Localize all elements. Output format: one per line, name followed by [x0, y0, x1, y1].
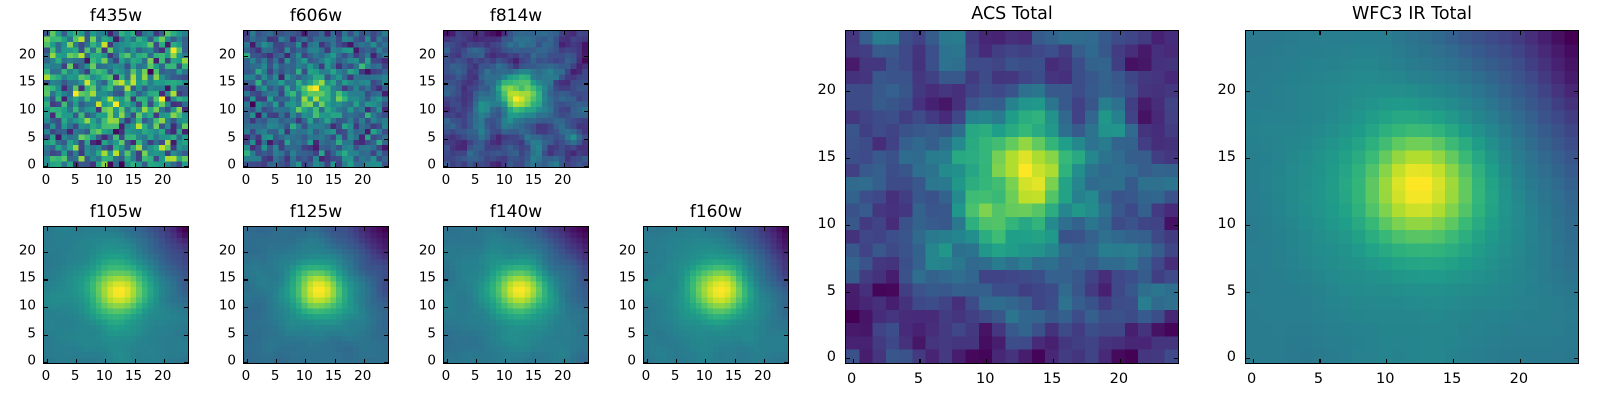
heatmap-axes-acs-total — [845, 30, 1179, 364]
ytick-label-f435w-2: 10 — [19, 103, 36, 117]
ytick-label-f125w-0: 0 — [227, 354, 236, 368]
ytick-label-acs-total-4: 20 — [818, 83, 836, 98]
heatmap-image-acs-total — [846, 31, 1178, 363]
ytick-mark-acs-total-3 — [846, 158, 850, 159]
xtick-label-f435w-1: 5 — [71, 174, 80, 188]
heatmap-axes-wfc3-ir-total — [1245, 30, 1579, 364]
xtick-mark-top-acs-total-1 — [919, 31, 920, 35]
xtick-mark-f435w-3 — [135, 163, 136, 167]
xtick-mark-acs-total-2 — [986, 359, 987, 363]
xtick-label-f160w-3: 15 — [725, 370, 742, 384]
ytick-mark-f105w-0 — [44, 362, 48, 363]
heatmap-image-f814w — [444, 31, 588, 167]
ytick-label-f814w-3: 15 — [419, 76, 436, 90]
xtick-mark-top-wfc3-ir-total-3 — [1453, 31, 1454, 35]
xtick-mark-f125w-3 — [335, 359, 336, 363]
xtick-label-acs-total-3: 15 — [1043, 372, 1061, 387]
xtick-label-f125w-1: 5 — [271, 370, 280, 384]
heatmap-axes-f105w — [43, 226, 189, 364]
xtick-mark-f606w-1 — [276, 163, 277, 167]
heatmap-axes-f140w — [443, 226, 589, 364]
ytick-mark-f140w-3 — [444, 279, 448, 280]
xtick-mark-f814w-2 — [505, 163, 506, 167]
ytick-mark-f606w-0 — [244, 166, 248, 167]
ytick-mark-wfc3-ir-total-0 — [1246, 358, 1250, 359]
xtick-mark-top-wfc3-ir-total-1 — [1319, 31, 1320, 35]
ytick-mark-f140w-4 — [444, 252, 448, 253]
xtick-label-f814w-2: 10 — [496, 174, 513, 188]
xtick-label-wfc3-ir-total-3: 15 — [1443, 372, 1461, 387]
xtick-mark-top-f140w-3 — [535, 227, 536, 231]
ytick-label-f814w-2: 10 — [419, 103, 436, 117]
ytick-mark-f435w-3 — [44, 83, 48, 84]
cutout-panel-wfc3-ir-total: WFC3 IR Total0510152005101520 — [1185, 0, 1600, 404]
ytick-mark-acs-total-1 — [846, 292, 850, 293]
ytick-label-f160w-4: 20 — [619, 244, 636, 258]
ytick-mark-right-acs-total-0 — [1174, 358, 1178, 359]
xtick-mark-f435w-4 — [164, 163, 165, 167]
xtick-mark-f814w-3 — [535, 163, 536, 167]
ytick-mark-f435w-4 — [44, 56, 48, 57]
figure-canvas: f435w0510152005101520f606w05101520051015… — [0, 0, 1600, 400]
ytick-mark-right-wfc3-ir-total-4 — [1574, 91, 1578, 92]
ytick-mark-wfc3-ir-total-2 — [1246, 225, 1250, 226]
xtick-label-f140w-1: 5 — [471, 370, 480, 384]
xtick-mark-f435w-1 — [76, 163, 77, 167]
heatmap-axes-f814w — [443, 30, 589, 168]
xtick-label-f105w-3: 15 — [125, 370, 142, 384]
xtick-mark-top-f814w-0 — [447, 31, 448, 35]
xtick-mark-acs-total-1 — [919, 359, 920, 363]
xtick-mark-top-f105w-4 — [164, 227, 165, 231]
xtick-mark-f160w-3 — [735, 359, 736, 363]
ytick-mark-right-acs-total-1 — [1174, 292, 1178, 293]
xtick-label-f105w-1: 5 — [71, 370, 80, 384]
ytick-mark-f105w-3 — [44, 279, 48, 280]
xtick-mark-top-f606w-3 — [335, 31, 336, 35]
heatmap-image-f606w — [244, 31, 388, 167]
xtick-mark-f140w-3 — [535, 359, 536, 363]
xtick-label-f105w-4: 20 — [154, 370, 171, 384]
panel-title-wfc3-ir-total: WFC3 IR Total — [1185, 6, 1600, 24]
xtick-mark-acs-total-4 — [1120, 359, 1121, 363]
xtick-mark-f105w-4 — [164, 359, 165, 363]
ytick-label-f125w-2: 10 — [219, 299, 236, 313]
xtick-mark-f606w-3 — [335, 163, 336, 167]
xtick-label-acs-total-1: 5 — [914, 372, 923, 387]
y-axis-ticklabels-f814w: 05101520 — [383, 30, 436, 168]
ytick-label-f140w-1: 5 — [427, 327, 436, 341]
xtick-label-f125w-3: 15 — [325, 370, 342, 384]
heatmap-axes-f435w — [43, 30, 189, 168]
xtick-label-acs-total-0: 0 — [847, 372, 856, 387]
heatmap-image-f435w — [44, 31, 188, 167]
ytick-mark-f125w-2 — [244, 307, 248, 308]
xtick-mark-top-f140w-1 — [476, 227, 477, 231]
ytick-label-f140w-4: 20 — [419, 244, 436, 258]
ytick-label-f606w-0: 0 — [227, 158, 236, 172]
ytick-label-f125w-3: 15 — [219, 272, 236, 286]
xtick-label-wfc3-ir-total-1: 5 — [1314, 372, 1323, 387]
xtick-mark-top-wfc3-ir-total-0 — [1253, 31, 1254, 35]
xtick-mark-top-f606w-2 — [305, 31, 306, 35]
y-axis-ticklabels-f125w: 05101520 — [183, 226, 236, 364]
xtick-mark-f125w-1 — [276, 359, 277, 363]
xtick-label-f606w-2: 10 — [296, 174, 313, 188]
xtick-mark-acs-total-0 — [853, 359, 854, 363]
xtick-mark-f814w-1 — [476, 163, 477, 167]
xtick-mark-wfc3-ir-total-3 — [1453, 359, 1454, 363]
ytick-mark-f814w-3 — [444, 83, 448, 84]
xtick-label-f606w-1: 5 — [271, 174, 280, 188]
cutout-panel-acs-total: ACS Total0510152005101520 — [785, 0, 1239, 404]
ytick-mark-right-wfc3-ir-total-1 — [1574, 292, 1578, 293]
xtick-mark-top-f125w-4 — [364, 227, 365, 231]
ytick-mark-f125w-3 — [244, 279, 248, 280]
y-axis-ticklabels-f160w: 05101520 — [583, 226, 636, 364]
xtick-mark-f814w-4 — [564, 163, 565, 167]
ytick-mark-right-f814w-4 — [584, 56, 588, 57]
xtick-mark-f105w-3 — [135, 359, 136, 363]
ytick-label-f814w-1: 5 — [427, 131, 436, 145]
ytick-mark-acs-total-0 — [846, 358, 850, 359]
y-axis-ticklabels-wfc3-ir-total: 05101520 — [1185, 30, 1236, 364]
ytick-label-wfc3-ir-total-1: 5 — [1227, 283, 1236, 298]
y-axis-ticklabels-f140w: 05101520 — [383, 226, 436, 364]
xtick-label-f160w-0: 0 — [642, 370, 651, 384]
xtick-mark-top-f606w-1 — [276, 31, 277, 35]
xtick-mark-wfc3-ir-total-1 — [1319, 359, 1320, 363]
panel-title-f814w: f814w — [383, 8, 649, 25]
ytick-label-f160w-0: 0 — [627, 354, 636, 368]
xtick-mark-acs-total-3 — [1053, 359, 1054, 363]
ytick-mark-f140w-2 — [444, 307, 448, 308]
xtick-mark-top-wfc3-ir-total-2 — [1386, 31, 1387, 35]
xtick-label-f435w-2: 10 — [96, 174, 113, 188]
xtick-label-f105w-2: 10 — [96, 370, 113, 384]
ytick-label-f606w-4: 20 — [219, 48, 236, 62]
xtick-mark-top-f105w-2 — [105, 227, 106, 231]
xtick-label-f814w-3: 15 — [525, 174, 542, 188]
xtick-mark-wfc3-ir-total-0 — [1253, 359, 1254, 363]
y-axis-ticklabels-f105w: 05101520 — [0, 226, 36, 364]
xtick-label-f435w-0: 0 — [42, 174, 51, 188]
ytick-label-f606w-2: 10 — [219, 103, 236, 117]
ytick-label-wfc3-ir-total-2: 10 — [1218, 216, 1236, 231]
xtick-mark-top-f105w-1 — [76, 227, 77, 231]
xtick-mark-f606w-4 — [364, 163, 365, 167]
xtick-label-wfc3-ir-total-0: 0 — [1247, 372, 1256, 387]
ytick-mark-right-acs-total-2 — [1174, 225, 1178, 226]
ytick-label-f435w-1: 5 — [27, 131, 36, 145]
xtick-mark-top-f105w-0 — [47, 227, 48, 231]
ytick-label-wfc3-ir-total-3: 15 — [1218, 150, 1236, 165]
y-axis-ticklabels-f435w: 05101520 — [0, 30, 36, 168]
xtick-mark-wfc3-ir-total-2 — [1386, 359, 1387, 363]
xtick-label-f140w-3: 15 — [525, 370, 542, 384]
ytick-mark-f140w-0 — [444, 362, 448, 363]
xtick-mark-top-f435w-4 — [164, 31, 165, 35]
xtick-label-f435w-4: 20 — [154, 174, 171, 188]
ytick-mark-f606w-3 — [244, 83, 248, 84]
ytick-mark-f435w-1 — [44, 139, 48, 140]
xtick-label-f125w-4: 20 — [354, 370, 371, 384]
xtick-mark-top-f606w-0 — [247, 31, 248, 35]
ytick-mark-f125w-1 — [244, 335, 248, 336]
xtick-mark-top-f160w-0 — [647, 227, 648, 231]
xtick-label-f606w-0: 0 — [242, 174, 251, 188]
ytick-mark-right-wfc3-ir-total-0 — [1574, 358, 1578, 359]
xtick-label-f435w-3: 15 — [125, 174, 142, 188]
xtick-mark-top-acs-total-0 — [853, 31, 854, 35]
ytick-mark-f140w-1 — [444, 335, 448, 336]
ytick-mark-f435w-2 — [44, 111, 48, 112]
xtick-label-wfc3-ir-total-2: 10 — [1376, 372, 1394, 387]
ytick-mark-acs-total-4 — [846, 91, 850, 92]
ytick-mark-wfc3-ir-total-3 — [1246, 158, 1250, 159]
ytick-mark-f125w-0 — [244, 362, 248, 363]
heatmap-image-wfc3-ir-total — [1246, 31, 1578, 363]
heatmap-image-f105w — [44, 227, 188, 363]
ytick-mark-f435w-0 — [44, 166, 48, 167]
xtick-mark-top-f435w-0 — [47, 31, 48, 35]
ytick-label-acs-total-2: 10 — [818, 216, 836, 231]
ytick-mark-f105w-1 — [44, 335, 48, 336]
ytick-mark-right-f814w-1 — [584, 139, 588, 140]
ytick-label-wfc3-ir-total-0: 0 — [1227, 350, 1236, 365]
ytick-label-f140w-2: 10 — [419, 299, 436, 313]
xtick-mark-top-acs-total-4 — [1120, 31, 1121, 35]
ytick-label-f814w-0: 0 — [427, 158, 436, 172]
xtick-mark-top-wfc3-ir-total-4 — [1520, 31, 1521, 35]
xtick-mark-f125w-4 — [364, 359, 365, 363]
xtick-mark-top-f435w-3 — [135, 31, 136, 35]
xtick-mark-f160w-4 — [764, 359, 765, 363]
ytick-mark-acs-total-2 — [846, 225, 850, 226]
xtick-mark-top-f160w-1 — [676, 227, 677, 231]
xtick-mark-f105w-1 — [76, 359, 77, 363]
ytick-mark-f160w-2 — [644, 307, 648, 308]
xtick-mark-top-f125w-3 — [335, 227, 336, 231]
xtick-mark-f160w-2 — [705, 359, 706, 363]
xtick-label-f160w-1: 5 — [671, 370, 680, 384]
ytick-label-f606w-1: 5 — [227, 131, 236, 145]
ytick-label-f435w-0: 0 — [27, 158, 36, 172]
xtick-mark-top-f140w-0 — [447, 227, 448, 231]
xtick-mark-f125w-2 — [305, 359, 306, 363]
ytick-mark-f105w-2 — [44, 307, 48, 308]
xtick-label-f105w-0: 0 — [42, 370, 51, 384]
xtick-label-f125w-2: 10 — [296, 370, 313, 384]
cutout-panel-f814w: f814w0510152005101520 — [383, 0, 649, 208]
xtick-mark-f140w-2 — [505, 359, 506, 363]
ytick-mark-f125w-4 — [244, 252, 248, 253]
xtick-label-f606w-3: 15 — [325, 174, 342, 188]
ytick-label-f105w-2: 10 — [19, 299, 36, 313]
ytick-label-f435w-3: 15 — [19, 76, 36, 90]
xtick-mark-top-f814w-3 — [535, 31, 536, 35]
ytick-label-f606w-3: 15 — [219, 76, 236, 90]
ytick-label-f105w-3: 15 — [19, 272, 36, 286]
ytick-mark-right-f814w-2 — [584, 111, 588, 112]
xtick-mark-top-f125w-1 — [276, 227, 277, 231]
xtick-label-f814w-4: 20 — [554, 174, 571, 188]
ytick-label-f435w-4: 20 — [19, 48, 36, 62]
ytick-mark-f606w-4 — [244, 56, 248, 57]
ytick-mark-f160w-0 — [644, 362, 648, 363]
xtick-label-f160w-2: 10 — [696, 370, 713, 384]
ytick-label-f140w-3: 15 — [419, 272, 436, 286]
ytick-label-f814w-4: 20 — [419, 48, 436, 62]
xtick-mark-top-f125w-0 — [247, 227, 248, 231]
ytick-mark-right-acs-total-4 — [1174, 91, 1178, 92]
xtick-mark-f140w-1 — [476, 359, 477, 363]
ytick-mark-f814w-2 — [444, 111, 448, 112]
xtick-mark-top-f140w-2 — [505, 227, 506, 231]
xtick-mark-top-f435w-1 — [76, 31, 77, 35]
ytick-mark-f606w-2 — [244, 111, 248, 112]
ytick-mark-right-f814w-0 — [584, 166, 588, 167]
ytick-mark-right-acs-total-3 — [1174, 158, 1178, 159]
ytick-mark-f814w-1 — [444, 139, 448, 140]
ytick-mark-right-wfc3-ir-total-2 — [1574, 225, 1578, 226]
xtick-mark-top-f160w-2 — [705, 227, 706, 231]
xtick-mark-top-acs-total-3 — [1053, 31, 1054, 35]
xtick-label-acs-total-2: 10 — [976, 372, 994, 387]
xtick-mark-top-f125w-2 — [305, 227, 306, 231]
xtick-mark-top-f606w-4 — [364, 31, 365, 35]
xtick-mark-top-f160w-4 — [764, 227, 765, 231]
ytick-mark-f105w-4 — [44, 252, 48, 253]
xtick-label-f140w-2: 10 — [496, 370, 513, 384]
xtick-label-f606w-4: 20 — [354, 174, 371, 188]
xtick-mark-top-f435w-2 — [105, 31, 106, 35]
ytick-mark-wfc3-ir-total-1 — [1246, 292, 1250, 293]
ytick-label-acs-total-0: 0 — [827, 350, 836, 365]
ytick-mark-wfc3-ir-total-4 — [1246, 91, 1250, 92]
heatmap-axes-f160w — [643, 226, 789, 364]
ytick-label-acs-total-3: 15 — [818, 150, 836, 165]
xtick-mark-f105w-2 — [105, 359, 106, 363]
ytick-label-wfc3-ir-total-4: 20 — [1218, 83, 1236, 98]
ytick-label-f105w-0: 0 — [27, 354, 36, 368]
heatmap-image-f140w — [444, 227, 588, 363]
xtick-mark-top-f105w-3 — [135, 227, 136, 231]
ytick-label-f105w-1: 5 — [27, 327, 36, 341]
xtick-label-f140w-0: 0 — [442, 370, 451, 384]
xtick-label-f814w-1: 5 — [471, 174, 480, 188]
ytick-mark-f160w-1 — [644, 335, 648, 336]
xtick-mark-top-f160w-3 — [735, 227, 736, 231]
xtick-label-f125w-0: 0 — [242, 370, 251, 384]
xtick-mark-f606w-2 — [305, 163, 306, 167]
ytick-mark-f814w-4 — [444, 56, 448, 57]
xtick-mark-f435w-2 — [105, 163, 106, 167]
xtick-label-f814w-0: 0 — [442, 174, 451, 188]
xtick-label-acs-total-4: 20 — [1110, 372, 1128, 387]
ytick-mark-f606w-1 — [244, 139, 248, 140]
y-axis-ticklabels-acs-total: 05101520 — [785, 30, 836, 364]
xtick-label-f140w-4: 20 — [554, 370, 571, 384]
xtick-label-f160w-4: 20 — [754, 370, 771, 384]
xtick-mark-wfc3-ir-total-4 — [1520, 359, 1521, 363]
panel-title-acs-total: ACS Total — [785, 6, 1239, 24]
ytick-label-f160w-2: 10 — [619, 299, 636, 313]
ytick-label-f105w-4: 20 — [19, 244, 36, 258]
heatmap-image-f125w — [244, 227, 388, 363]
xtick-label-wfc3-ir-total-4: 20 — [1510, 372, 1528, 387]
ytick-label-f125w-1: 5 — [227, 327, 236, 341]
y-axis-ticklabels-f606w: 05101520 — [183, 30, 236, 168]
ytick-mark-f814w-0 — [444, 166, 448, 167]
ytick-label-acs-total-1: 5 — [827, 283, 836, 298]
xtick-mark-top-f814w-4 — [564, 31, 565, 35]
ytick-label-f140w-0: 0 — [427, 354, 436, 368]
xtick-mark-top-f140w-4 — [564, 227, 565, 231]
ytick-mark-right-f814w-3 — [584, 83, 588, 84]
ytick-label-f125w-4: 20 — [219, 244, 236, 258]
heatmap-image-f160w — [644, 227, 788, 363]
ytick-mark-right-wfc3-ir-total-3 — [1574, 158, 1578, 159]
xtick-mark-top-f814w-1 — [476, 31, 477, 35]
xtick-mark-top-f814w-2 — [505, 31, 506, 35]
heatmap-axes-f606w — [243, 30, 389, 168]
xtick-mark-top-acs-total-2 — [986, 31, 987, 35]
ytick-label-f160w-1: 5 — [627, 327, 636, 341]
ytick-label-f160w-3: 15 — [619, 272, 636, 286]
xtick-mark-f140w-4 — [564, 359, 565, 363]
ytick-mark-f160w-4 — [644, 252, 648, 253]
xtick-mark-f160w-1 — [676, 359, 677, 363]
ytick-mark-f160w-3 — [644, 279, 648, 280]
heatmap-axes-f125w — [243, 226, 389, 364]
